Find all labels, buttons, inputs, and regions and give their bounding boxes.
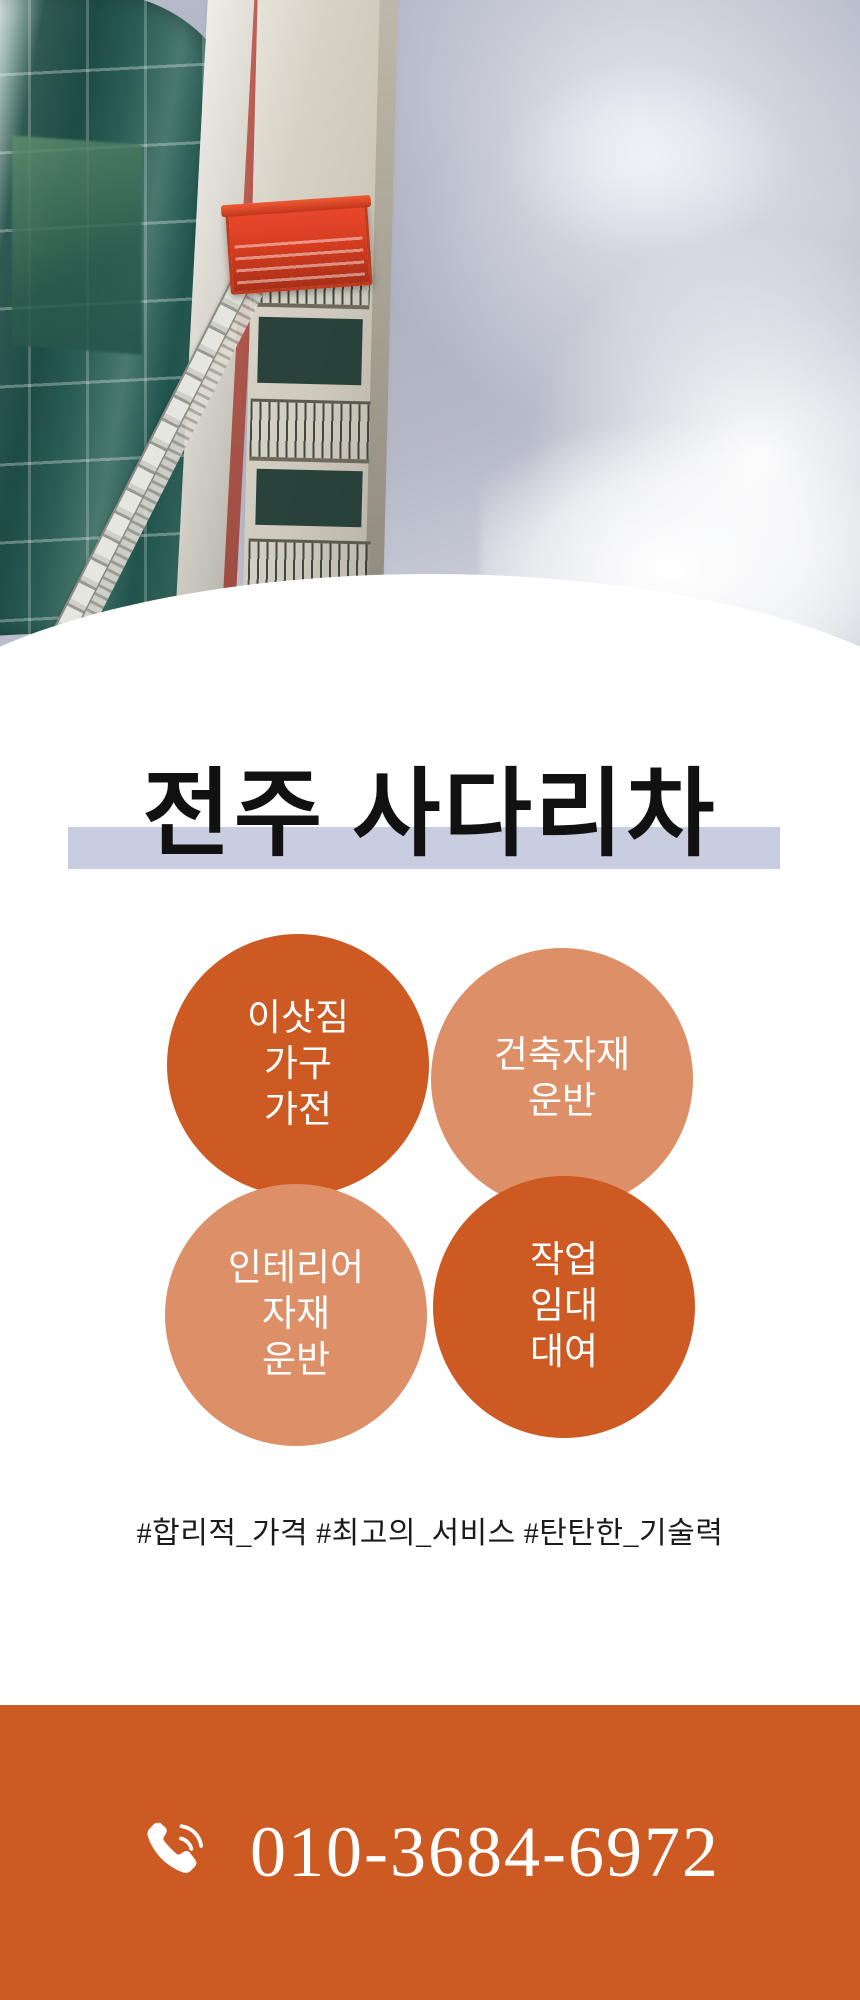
service-line: 운반: [262, 1338, 330, 1384]
service-circle-interior[interactable]: 인테리어 자재 운반: [165, 1184, 427, 1446]
service-circle-materials[interactable]: 건축자재 운반: [431, 948, 693, 1210]
service-line: 임대: [530, 1284, 598, 1330]
contact-row: 010-3684-6972: [140, 1811, 720, 1894]
service-circle-row-bottom: 인테리어 자재 운반 작업 임대 대여: [150, 1190, 710, 1452]
poster-content: 전주 사다리차 이삿짐 가구 가전 건축자재 운반 인테리어 자재 운반: [0, 740, 860, 1740]
phone-call-icon: [140, 1815, 216, 1891]
hero-photo: [0, 0, 860, 740]
service-line: 가구: [264, 1042, 332, 1088]
service-line: 대여: [530, 1330, 598, 1376]
service-line: 작업: [530, 1238, 598, 1284]
service-line: 건축자재: [494, 1033, 630, 1079]
service-circle-moving[interactable]: 이삿짐 가구 가전: [167, 934, 429, 1196]
service-line: 운반: [528, 1079, 596, 1125]
service-line: 자재: [262, 1292, 330, 1338]
balcony-railing: [249, 399, 370, 464]
cloud-upper: [500, 60, 800, 260]
green-glass-panel: [12, 135, 142, 354]
lift-platform-cage: [225, 203, 372, 295]
phone-number[interactable]: 010-3684-6972: [250, 1811, 720, 1894]
hashtag-line: #합리적_가격 #최고의_서비스 #탄탄한_기술력: [0, 1508, 860, 1552]
service-circle-rental[interactable]: 작업 임대 대여: [433, 1176, 695, 1438]
poster-root: 전주 사다리차 이삿짐 가구 가전 건축자재 운반 인테리어 자재 운반: [0, 0, 860, 2000]
page-title: 전주 사다리차: [143, 767, 718, 863]
cage-slats: [235, 237, 365, 286]
window-pane: [257, 317, 363, 386]
contact-footer: 010-3684-6972: [0, 1705, 860, 2000]
service-circles: 이삿짐 가구 가전 건축자재 운반 인테리어 자재 운반 작업 임대: [150, 934, 710, 1452]
service-line: 이삿짐: [247, 996, 349, 1042]
window-pane: [255, 469, 362, 528]
service-line: 가전: [264, 1088, 332, 1134]
cage-body: [225, 203, 372, 295]
service-circle-row-top: 이삿짐 가구 가전 건축자재 운반: [150, 934, 710, 1196]
title-block: 전주 사다리차: [0, 740, 860, 890]
service-line: 인테리어: [228, 1246, 364, 1292]
